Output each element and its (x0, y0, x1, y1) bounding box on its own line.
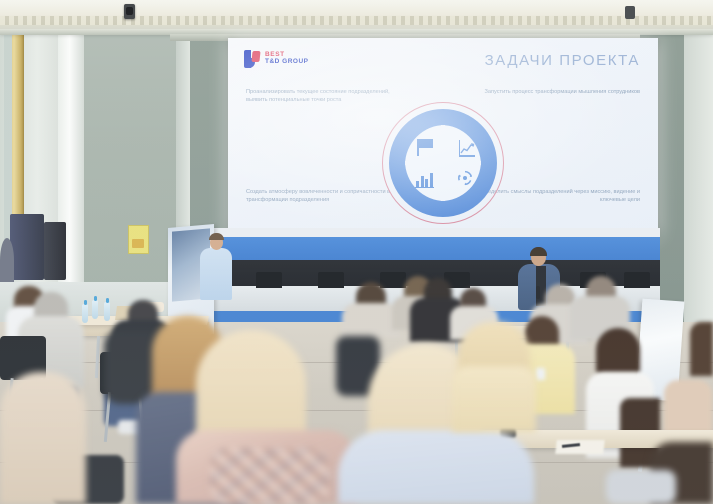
chair-back (256, 272, 282, 288)
speaker-stand (0, 238, 14, 283)
security-camera-icon (124, 4, 135, 19)
presentation-room-photo: BEST T&D GROUP ЗАДАЧИ ПРОЕКТА Проанализи… (0, 0, 713, 504)
pilaster-far-right (684, 0, 713, 340)
projection-screen: BEST T&D GROUP ЗАДАЧИ ПРОЕКТА Проанализи… (228, 38, 658, 236)
water-bottle (104, 302, 110, 321)
logo-line-2: T&D GROUP (265, 59, 309, 66)
foreground-person-head (0, 372, 86, 504)
foreground-device (606, 470, 676, 504)
chair-back (624, 272, 650, 288)
foreground-lightblue-top (338, 430, 534, 504)
audience-head (596, 328, 640, 374)
logo-mark-icon (244, 50, 261, 68)
name-badge (536, 368, 545, 380)
best-td-group-logo: BEST T&D GROUP (244, 50, 309, 68)
sparkline-path (460, 142, 475, 155)
crown-molding (0, 0, 713, 34)
foreground-floral-pattern (210, 448, 330, 504)
microphone-icon (536, 286, 540, 299)
line-chart-axis (459, 155, 475, 157)
bar-chart-axis (415, 187, 434, 189)
audience-head (690, 322, 713, 376)
dentil-trim (0, 16, 713, 25)
chair-back (380, 272, 406, 288)
chair-back (318, 272, 344, 288)
objective-text-top-right: Запустить процесс трансформации мышления… (475, 88, 640, 96)
bar-chart-icon (416, 173, 433, 187)
water-bottle (92, 300, 98, 319)
security-camera-icon (625, 6, 635, 19)
water-bottle (82, 304, 88, 323)
cycle-arrows-icon (457, 170, 473, 186)
presenter-at-flipchart-body (200, 248, 232, 300)
slide-title: ЗАДАЧИ ПРОЕКТА (485, 52, 640, 69)
four-quadrant-circle-emblem (382, 102, 504, 224)
presenter-hair (530, 247, 547, 256)
pa-speaker (10, 214, 44, 280)
stage-band-blue (190, 237, 660, 261)
presenter-at-flipchart-hair (209, 233, 224, 240)
wall-poster (128, 225, 149, 254)
foreground-person-shoulder (452, 366, 536, 432)
emblem-disc (389, 109, 497, 217)
pa-speaker-small (44, 222, 66, 280)
flag-cloth (419, 139, 433, 148)
